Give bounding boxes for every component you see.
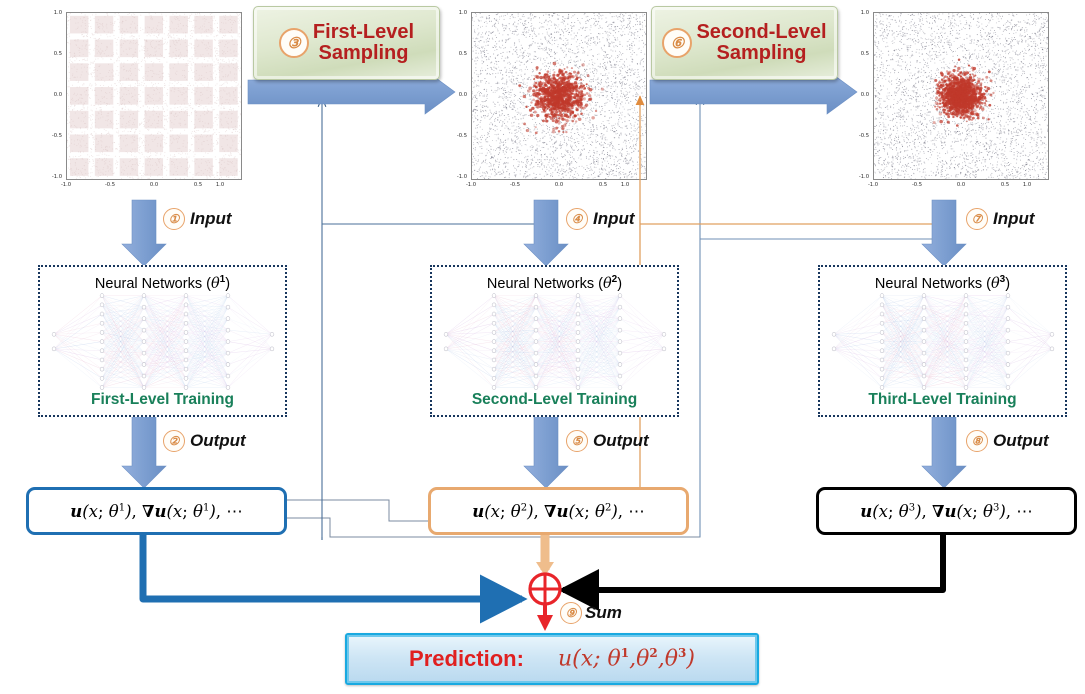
block-arrow-output-2: [524, 412, 568, 488]
plot3-xtick-4: 1.0: [1015, 182, 1039, 188]
plot1-ytick-1: 0.5: [38, 51, 62, 57]
prediction-formula: u(x; θ1,θ2,θ3): [558, 646, 695, 671]
first-level-sample-plot: 1.0 0.5 0.0 -0.5 -1.0 -1.0 -0.5 0.0 0.5 …: [443, 6, 653, 202]
plot1-ytick-3: -0.5: [38, 133, 62, 139]
block-arrow-input-1: [122, 200, 166, 266]
prediction-bar[interactable]: Prediction: u(x; θ1,θ2,θ3): [345, 633, 759, 685]
uniform-grid-plot: 1.0 0.5 0.0 -0.5 -1.0 -1.0 -0.5 0.0 0.5 …: [38, 6, 248, 202]
step-label-input-2: ④ Input: [566, 208, 635, 230]
block-arrow-output-1: [122, 412, 166, 488]
output-formula-box-3[interactable]: u(x; θ3), ∇u(x; θ3), ⋯: [816, 487, 1077, 535]
output-formula-1: u(x; θ1), ∇u(x; θ1), ⋯: [70, 502, 243, 521]
plot1-xtick-4: 1.0: [208, 182, 232, 188]
plot3-ytick-1: 0.5: [845, 51, 869, 57]
output-formula-box-1[interactable]: u(x; θ1), ∇u(x; θ1), ⋯: [26, 487, 287, 535]
step-number-9: ⑨: [560, 602, 582, 624]
neural-network-panel-2[interactable]: Neural Networks (θ2) Second-Level Traini…: [430, 265, 679, 417]
nn-1-graph: [40, 292, 285, 391]
step-label-input-3: ⑦ Input: [966, 208, 1035, 230]
neural-network-panel-1[interactable]: Neural Networks (θ1) First-Level Trainin…: [38, 265, 287, 417]
nn-2-graph: [432, 292, 677, 391]
prediction-label: Prediction:: [409, 646, 524, 672]
output-1-text: Output: [190, 431, 246, 451]
plot2-xtick-0: -1.0: [459, 182, 483, 188]
plot3-ytick-4: -1.0: [845, 174, 869, 180]
plot1-frame: [66, 12, 242, 180]
nn-3-graph: [820, 292, 1065, 391]
output-formula-box-2[interactable]: u(x; θ2), ∇u(x; θ2), ⋯: [428, 487, 689, 535]
plot3-xtick-1: -0.5: [905, 182, 929, 188]
plot3-xtick-0: -1.0: [861, 182, 885, 188]
nn-1-title: Neural Networks (θ1): [95, 274, 230, 292]
step-number-7: ⑦: [966, 208, 988, 230]
input-2-text: Input: [593, 209, 635, 229]
step-number-2: ②: [163, 430, 185, 452]
plot3-ytick-2: 0.0: [845, 92, 869, 98]
plot2-ytick-4: -1.0: [443, 174, 467, 180]
sum-text: Sum: [585, 603, 622, 623]
step-label-input-1: ① Input: [163, 208, 232, 230]
second-level-sample-plot: 1.0 0.5 0.0 -0.5 -1.0 -1.0 -0.5 0.0 0.5 …: [845, 6, 1055, 202]
plot3-ytick-3: -0.5: [845, 133, 869, 139]
output-2-text: Output: [593, 431, 649, 451]
plot2-frame: [471, 12, 647, 180]
step-label-output-2: ⑤ Output: [566, 430, 649, 452]
neural-network-panel-3[interactable]: Neural Networks (θ3) Third-Level Trainin…: [818, 265, 1067, 417]
plot1-xtick-3: 0.5: [186, 182, 210, 188]
nn-2-title: Neural Networks (θ2): [487, 274, 622, 292]
block-arrow-output-3: [922, 412, 966, 488]
step-label-sum: ⑨ Sum: [560, 602, 622, 624]
plot3-frame: [873, 12, 1049, 180]
second-level-sampling-banner[interactable]: ⑥ Second-LevelSampling: [651, 6, 838, 80]
nn-3-footer: Third-Level Training: [868, 391, 1016, 409]
plot3-points: [874, 13, 1048, 179]
plot1-xtick-2: 0.0: [142, 182, 166, 188]
output-formula-2: u(x; θ2), ∇u(x; θ2), ⋯: [472, 502, 645, 521]
nn-1-footer: First-Level Training: [91, 391, 234, 409]
nn-2-footer: Second-Level Training: [472, 391, 637, 409]
second-level-sampling-label: Second-LevelSampling: [696, 22, 826, 64]
step-number-1: ①: [163, 208, 185, 230]
first-level-sampling-banner[interactable]: ③ First-LevelSampling: [253, 6, 440, 80]
step-number-5: ⑤: [566, 430, 588, 452]
plot1-ytick-2: 0.0: [38, 92, 62, 98]
input-3-text: Input: [993, 209, 1035, 229]
plot2-xtick-3: 0.5: [591, 182, 615, 188]
plot1-points: [67, 13, 241, 179]
plot3-xtick-3: 0.5: [993, 182, 1017, 188]
step-number-3: ③: [279, 28, 309, 58]
plot2-ytick-2: 0.0: [443, 92, 467, 98]
step-number-4: ④: [566, 208, 588, 230]
plot1-ytick-0: 1.0: [38, 10, 62, 16]
plot3-xtick-2: 0.0: [949, 182, 973, 188]
plot2-xtick-2: 0.0: [547, 182, 571, 188]
step-label-output-3: ⑧ Output: [966, 430, 1049, 452]
plot2-ytick-1: 0.5: [443, 51, 467, 57]
step-label-output-1: ② Output: [163, 430, 246, 452]
plot2-ytick-3: -0.5: [443, 133, 467, 139]
plot1-xtick-1: -0.5: [98, 182, 122, 188]
block-arrow-input-3: [922, 200, 966, 266]
plot2-ytick-0: 1.0: [443, 10, 467, 16]
step-number-8: ⑧: [966, 430, 988, 452]
plot3-ytick-0: 1.0: [845, 10, 869, 16]
nn-3-title: Neural Networks (θ3): [875, 274, 1010, 292]
plot1-xtick-0: -1.0: [54, 182, 78, 188]
output-formula-3: u(x; θ3), ∇u(x; θ3), ⋯: [860, 502, 1033, 521]
output-3-text: Output: [993, 431, 1049, 451]
diagram-canvas: 1.0 0.5 0.0 -0.5 -1.0 -1.0 -0.5 0.0 0.5 …: [0, 0, 1085, 694]
first-level-sampling-label: First-LevelSampling: [313, 22, 414, 64]
plot2-points: [472, 13, 646, 179]
input-1-text: Input: [190, 209, 232, 229]
step-number-6: ⑥: [662, 28, 692, 58]
plot2-xtick-1: -0.5: [503, 182, 527, 188]
plot1-ytick-4: -1.0: [38, 174, 62, 180]
plot2-xtick-4: 1.0: [613, 182, 637, 188]
block-arrow-input-2: [524, 200, 568, 266]
